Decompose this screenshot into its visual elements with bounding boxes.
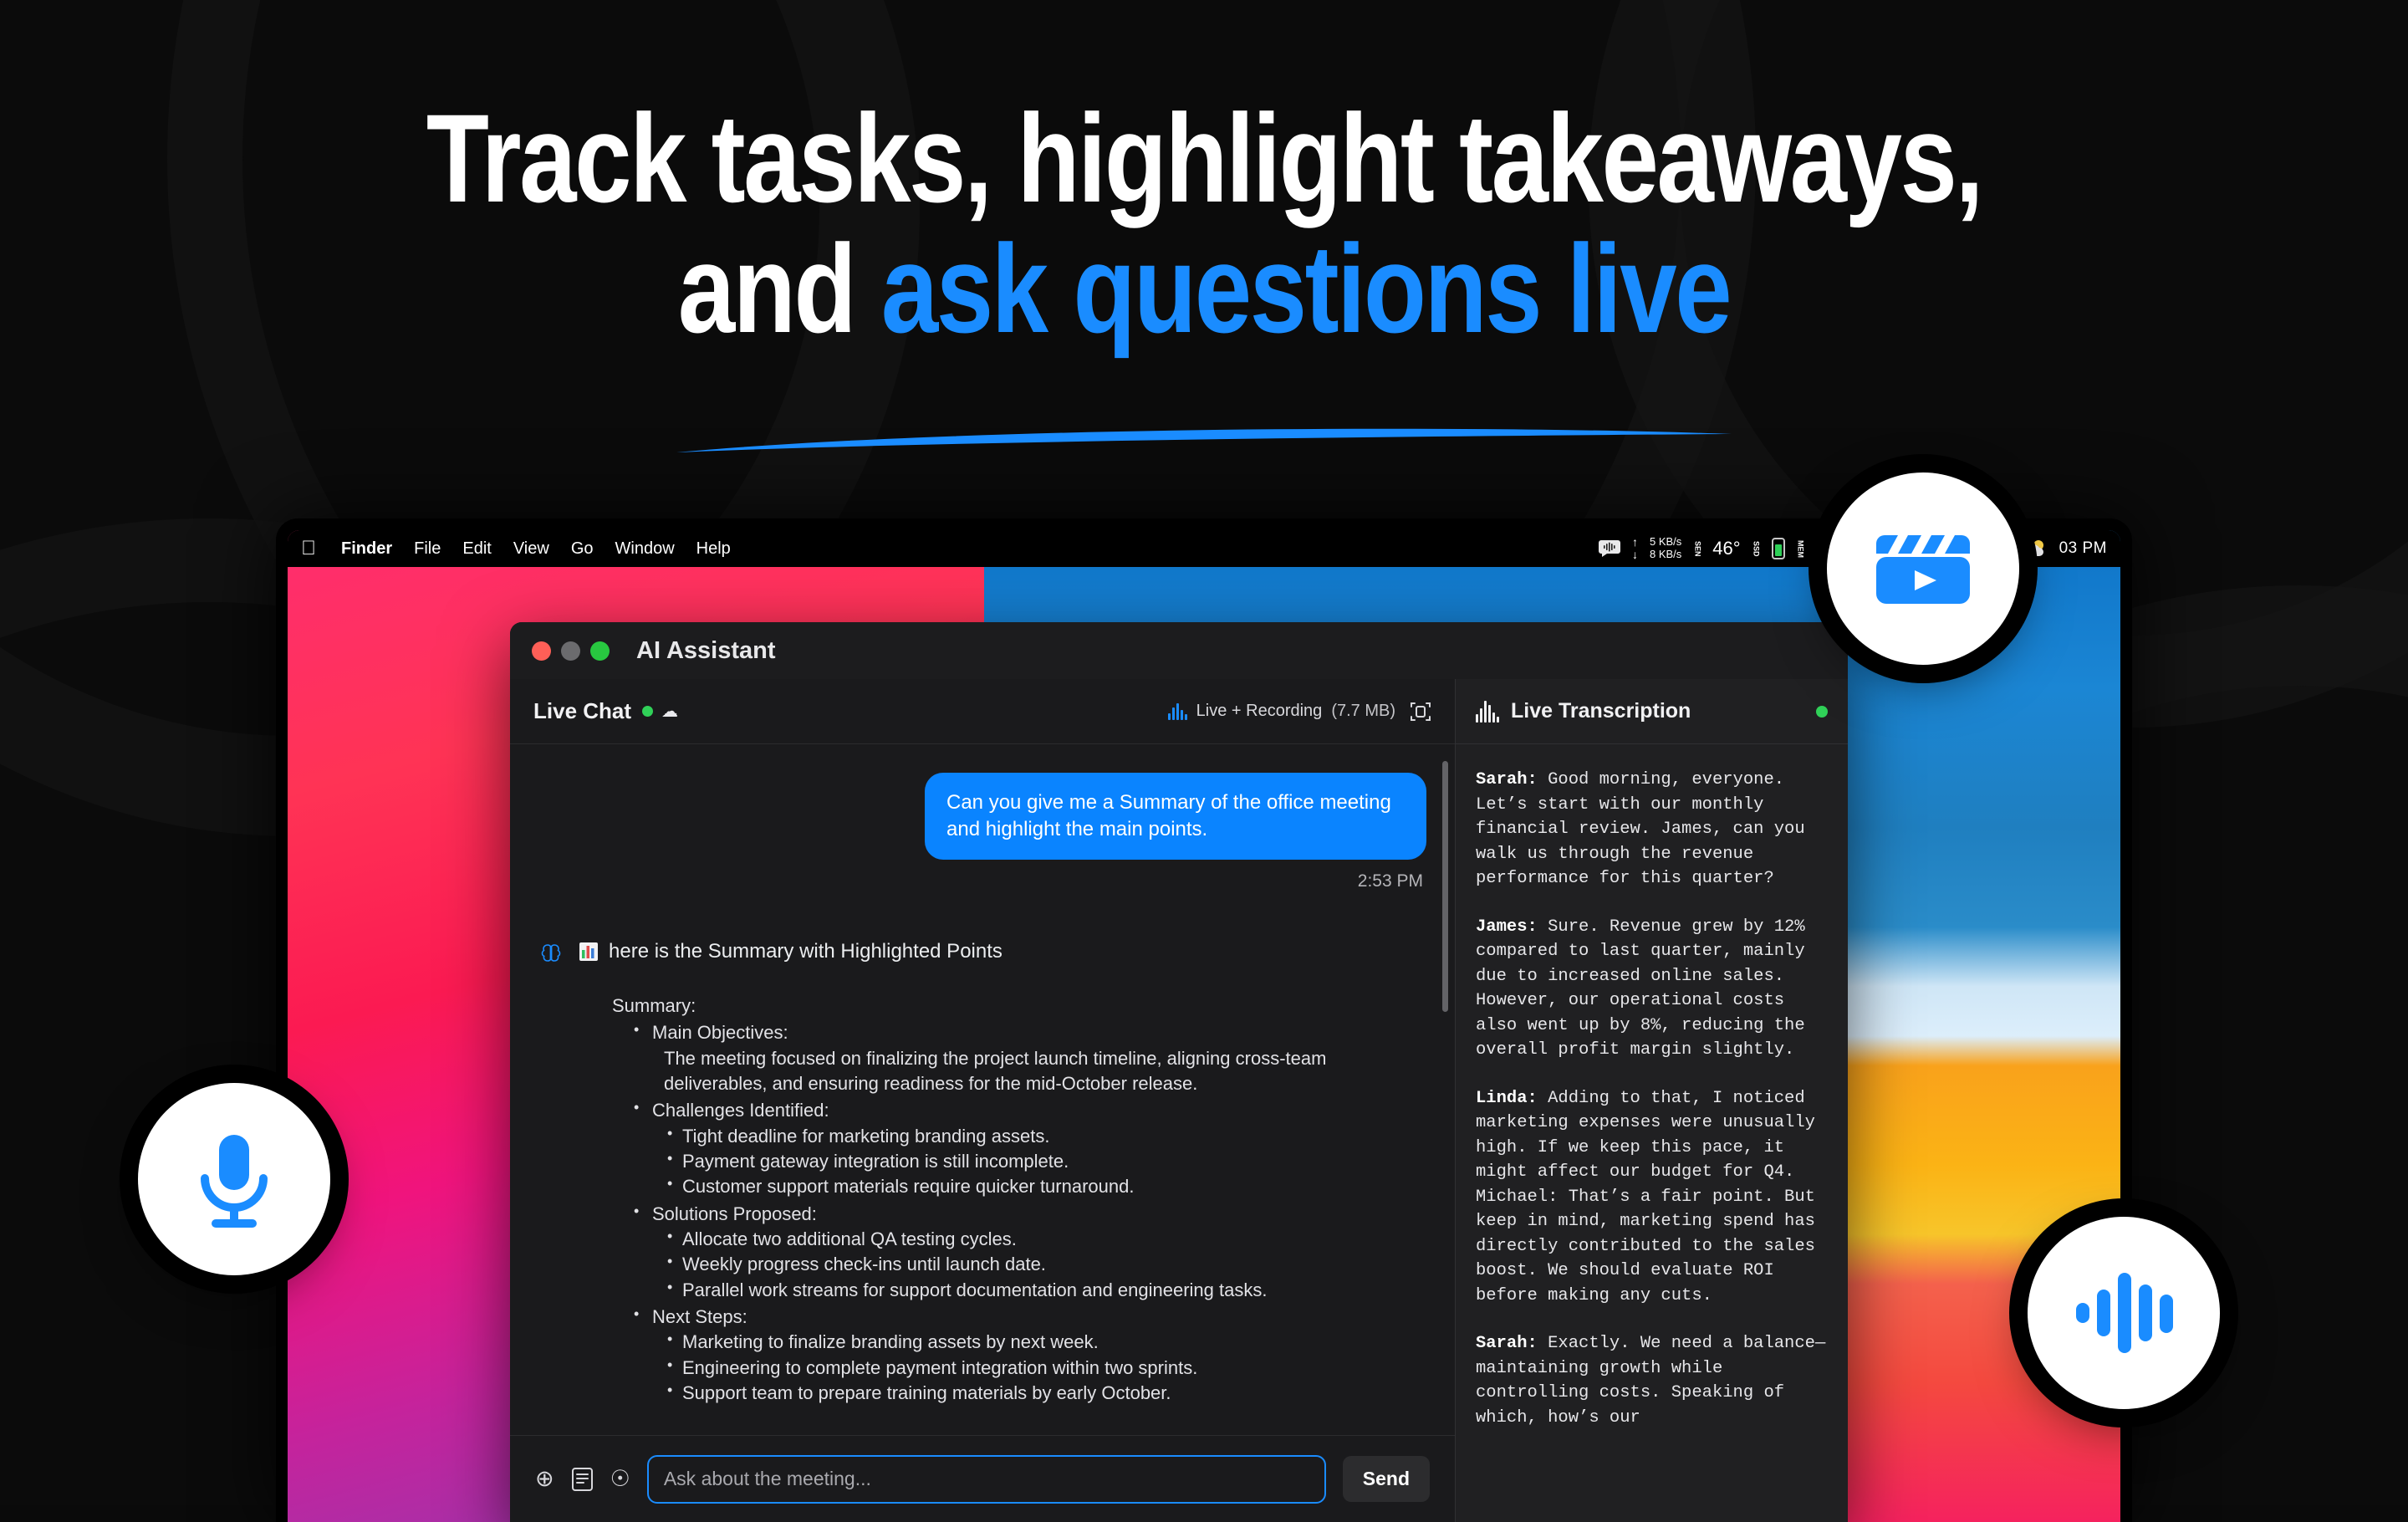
network-speed-readout: 5 KB/s 8 KB/s (1650, 536, 1681, 561)
summary-label: Summary: (612, 993, 1426, 1019)
user-message-timestamp: 2:53 PM (538, 871, 1426, 891)
maximize-button[interactable] (590, 641, 610, 661)
net-down-value: 5 KB/s (1650, 536, 1681, 549)
menubar-left-group:  Finder File Edit View Go Window Help (301, 539, 731, 559)
assistant-message: here is the Summary with Highlighted Poi… (538, 940, 1426, 1407)
ssd-label: SSD (1752, 541, 1760, 557)
transcript-speaker: James: (1476, 917, 1538, 937)
waveform-icon (2073, 1268, 2175, 1358)
recording-label: Live + Recording (1196, 702, 1323, 721)
transcript-speaker: Sarah: (1476, 1334, 1538, 1353)
menu-item-go[interactable]: Go (571, 539, 594, 559)
menu-item-file[interactable]: File (414, 539, 441, 559)
recording-status: Live + Recording (7.7 MB) (1168, 701, 1431, 723)
list-item: Tight deadline for marketing branding as… (666, 1124, 1426, 1149)
chat-panel: Live Chat ☁ Live + Recording (7.7 MB) (510, 679, 1455, 1522)
laptop-screen:  Finder File Edit View Go Window Help ↑… (288, 530, 2120, 1522)
mem-label: MEM (1797, 540, 1804, 558)
section-items: Marketing to finalize branding assets by… (666, 1330, 1426, 1406)
section-title: Challenges Identified: (652, 1100, 829, 1121)
summary-content: Summary: Main Objectives: The meeting fo… (612, 993, 1426, 1407)
ai-assistant-window: AI Assistant Live Chat ☁ Live + Recordin… (510, 622, 1848, 1522)
menu-item-finder[interactable]: Finder (341, 539, 392, 559)
transcript-entry: Sarah: Exactly. We need a balance—mainta… (1476, 1331, 1828, 1430)
net-up-value: 8 KB/s (1650, 549, 1681, 561)
transcript-entry: Linda: Adding to that, I noticed marketi… (1476, 1086, 1828, 1309)
transcript-text: Sure. Revenue grew by 12% compared to la… (1476, 917, 1805, 1060)
menu-item-view[interactable]: View (513, 539, 549, 559)
bar-chart-icon (579, 942, 599, 962)
close-button[interactable] (532, 641, 551, 661)
transcription-panel: Live Transcription Sarah: Good morning, … (1455, 679, 1848, 1522)
message-composer: ⊕ ☉ Send (510, 1435, 1455, 1522)
promo-headline: Track tasks, highlight takeaways, and as… (0, 100, 2408, 346)
clapperboard-icon (1873, 518, 1973, 619)
notes-icon[interactable] (571, 1467, 594, 1492)
minimize-button[interactable] (561, 641, 580, 661)
window-title: AI Assistant (636, 637, 776, 665)
user-message-bubble: Can you give me a Summary of the office … (925, 773, 1426, 860)
sensor-label: SEN (1693, 541, 1701, 557)
network-arrows-icon: ↑↓ (1632, 536, 1638, 562)
window-titlebar: AI Assistant (510, 622, 1848, 679)
headline-underline-swoosh (673, 422, 1735, 456)
section-title: Solutions Proposed: (652, 1203, 817, 1224)
headline-accent-text: ask questions live (881, 218, 1730, 359)
chat-messages-scroll[interactable]: Can you give me a Summary of the office … (510, 744, 1455, 1435)
transcription-header: Live Transcription (1456, 679, 1848, 744)
transcript-speaker: Sarah: (1476, 770, 1538, 789)
laptop-device:  Finder File Edit View Go Window Help ↑… (276, 518, 2132, 1522)
section-title: Next Steps: (652, 1306, 747, 1327)
message-input[interactable] (647, 1455, 1326, 1504)
menubar-clock[interactable]: 03 PM (2059, 539, 2107, 558)
transcription-title: Live Transcription (1511, 699, 1691, 723)
video-badge (1827, 472, 2019, 665)
section-items: Allocate two additional QA testing cycle… (666, 1227, 1426, 1303)
recording-size: (7.7 MB) (1331, 702, 1395, 721)
recording-waveform-icon (1168, 703, 1187, 720)
microphone-badge (138, 1083, 330, 1275)
list-item: Marketing to finalize branding assets by… (666, 1330, 1426, 1355)
assistant-brain-icon (538, 942, 564, 1407)
headline-line-2: and ask questions live (217, 231, 2191, 346)
section-items: Tight deadline for marketing branding as… (666, 1124, 1426, 1200)
temperature-value: 46° (1712, 538, 1740, 559)
user-message-row: Can you give me a Summary of the office … (538, 773, 1426, 860)
microphone-icon (188, 1130, 280, 1228)
menu-item-help[interactable]: Help (696, 539, 731, 559)
menu-item-edit[interactable]: Edit (462, 539, 491, 559)
menu-item-window[interactable]: Window (615, 539, 675, 559)
assistant-message-body: here is the Summary with Highlighted Poi… (579, 940, 1426, 1407)
window-body: Live Chat ☁ Live + Recording (7.7 MB) (510, 679, 1848, 1522)
list-item: Support team to prepare training materia… (666, 1381, 1426, 1406)
headline-plain-text: and (678, 218, 881, 359)
transcript-text: Adding to that, I noticed marketing expe… (1476, 1089, 1815, 1305)
weather-partly-cloudy-icon[interactable] (2023, 539, 2048, 559)
summary-section: Challenges Identified: Tight deadline fo… (634, 1098, 1426, 1199)
section-paragraph: The meeting focused on finalizing the pr… (652, 1046, 1426, 1097)
list-item: Payment gateway integration is still inc… (666, 1149, 1426, 1174)
chat-panel-title: Live Chat (533, 698, 631, 724)
summary-sections: Main Objectives: The meeting focused on … (634, 1020, 1426, 1406)
ssd-gauge-icon (1772, 538, 1785, 559)
transcription-waveform-icon (1476, 701, 1499, 723)
list-item: Customer support materials require quick… (666, 1174, 1426, 1199)
section-title: Main Objectives: (652, 1022, 788, 1043)
list-item: Allocate two additional QA testing cycle… (666, 1227, 1426, 1252)
transcription-body[interactable]: Sarah: Good morning, everyone. Let’s sta… (1456, 744, 1848, 1522)
cloud-sync-icon[interactable]: ☁ (661, 701, 678, 722)
waveform-badge (2028, 1217, 2220, 1409)
summary-section: Next Steps: Marketing to finalize brandi… (634, 1305, 1426, 1406)
headline-line-1: Track tasks, highlight takeaways, (217, 100, 2191, 216)
assistant-headline-text: here is the Summary with Highlighted Poi… (609, 940, 1002, 963)
transcription-live-dot (1816, 706, 1828, 718)
summary-section: Main Objectives: The meeting focused on … (634, 1020, 1426, 1096)
live-status-dot (642, 706, 653, 717)
list-item: Weekly progress check-ins until launch d… (666, 1252, 1426, 1277)
summary-section: Solutions Proposed: Allocate two additio… (634, 1202, 1426, 1303)
transcript-speaker: Linda: (1476, 1089, 1538, 1108)
expand-window-icon[interactable] (1410, 701, 1431, 723)
speech-waveform-icon[interactable] (1599, 539, 1620, 558)
transcript-entry: James: Sure. Revenue grew by 12% compare… (1476, 915, 1828, 1063)
apple-logo-icon[interactable]:  (301, 539, 316, 559)
send-button[interactable]: Send (1343, 1456, 1430, 1502)
list-item: Engineering to complete payment integrat… (666, 1356, 1426, 1381)
list-item: Parallel work streams for support docume… (666, 1278, 1426, 1303)
assistant-headline-row: here is the Summary with Highlighted Poi… (579, 940, 1426, 963)
plus-circle-icon[interactable]: ⊕ (535, 1468, 554, 1490)
more-options-icon[interactable]: ☉ (610, 1468, 630, 1490)
chat-panel-header: Live Chat ☁ Live + Recording (7.7 MB) (510, 679, 1455, 744)
chat-scrollbar[interactable] (1442, 761, 1448, 1012)
transcript-entry: Sarah: Good morning, everyone. Let’s sta… (1476, 768, 1828, 891)
